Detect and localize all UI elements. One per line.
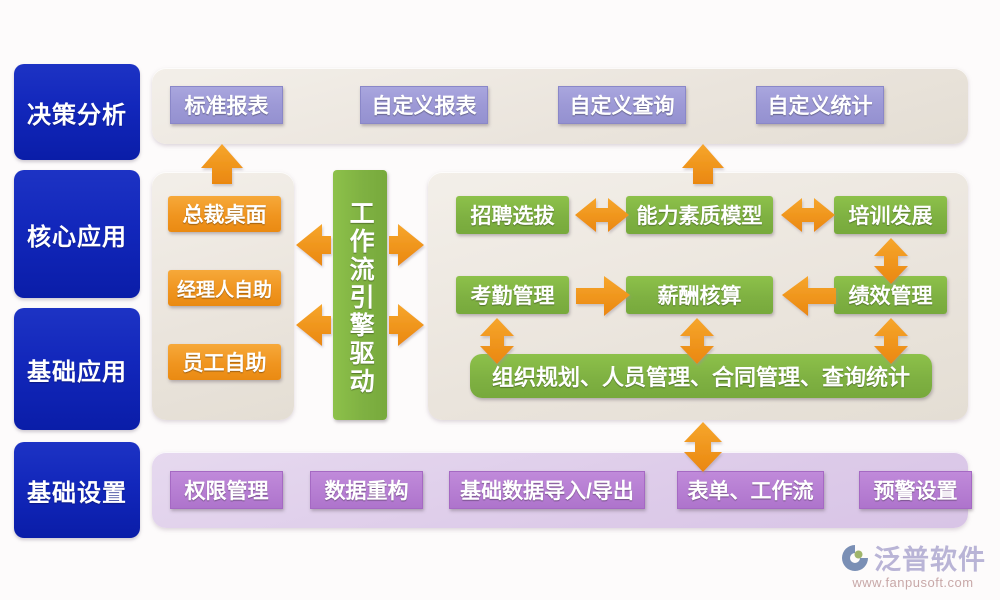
chip-label: 组织规划、人员管理、合同管理、查询统计 bbox=[492, 360, 910, 392]
chip-payroll-accounting[interactable]: 薪酬核算 bbox=[626, 276, 773, 314]
sidebar-item-label: 核心应用 bbox=[27, 217, 127, 252]
chip-label: 总裁桌面 bbox=[183, 199, 267, 229]
chip-form-workflow[interactable]: 表单、工作流 bbox=[677, 471, 824, 509]
chip-ceo-desktop[interactable]: 总裁桌面 bbox=[168, 196, 281, 232]
chip-label: 薪酬核算 bbox=[658, 280, 742, 310]
chip-foundation-modules[interactable]: 组织规划、人员管理、合同管理、查询统计 bbox=[470, 354, 932, 398]
chip-label: 考勤管理 bbox=[471, 280, 555, 310]
chip-label: 培训发展 bbox=[849, 200, 933, 230]
diagram-canvas: 决策分析 核心应用 基础应用 基础设置 标准报表 自定义报表 自定义查询 自定义… bbox=[0, 0, 1000, 600]
chip-label: 经理人自助 bbox=[177, 275, 272, 302]
chip-training-development[interactable]: 培训发展 bbox=[834, 196, 947, 234]
chip-label: 数据重构 bbox=[325, 475, 409, 505]
settings-panel: 权限管理 数据重构 基础数据导入/导出 表单、工作流 预警设置 bbox=[152, 452, 968, 528]
sidebar-item-label: 基础应用 bbox=[27, 352, 127, 387]
chip-label: 表单、工作流 bbox=[688, 475, 814, 505]
chip-performance-management[interactable]: 绩效管理 bbox=[834, 276, 947, 314]
chip-label: 权限管理 bbox=[185, 475, 269, 505]
chip-label: 自定义查询 bbox=[570, 90, 675, 120]
sidebar-item-label: 决策分析 bbox=[27, 95, 127, 130]
chip-label: 标准报表 bbox=[185, 90, 269, 120]
arrow-left-engine-to-selfservice-bottom bbox=[296, 304, 331, 346]
chip-label: 员工自助 bbox=[183, 347, 267, 377]
chip-basic-data-import-export[interactable]: 基础数据导入/导出 bbox=[449, 471, 645, 509]
chip-label: 基础数据导入/导出 bbox=[460, 475, 634, 505]
workflow-engine-label: 工作流引擎驱动 bbox=[347, 200, 373, 396]
chip-label: 自定义统计 bbox=[768, 90, 873, 120]
chip-custom-statistics[interactable]: 自定义统计 bbox=[756, 86, 884, 124]
arrow-right-engine-to-core-bottom bbox=[389, 304, 424, 346]
core-application-panel: 招聘选拔 能力素质模型 培训发展 考勤管理 薪酬核算 绩效管理 组织规划、人员管… bbox=[428, 172, 968, 420]
sidebar-item-label: 基础设置 bbox=[27, 473, 127, 508]
chip-custom-report[interactable]: 自定义报表 bbox=[360, 86, 488, 124]
watermark: 泛普软件 www.fanpusoft.com bbox=[840, 538, 986, 590]
chip-data-restructuring[interactable]: 数据重构 bbox=[310, 471, 423, 509]
chip-alert-settings[interactable]: 预警设置 bbox=[859, 471, 972, 509]
chip-competency-model[interactable]: 能力素质模型 bbox=[626, 196, 773, 234]
chip-employee-self-service[interactable]: 员工自助 bbox=[168, 344, 281, 380]
chip-label: 能力素质模型 bbox=[637, 200, 763, 230]
watermark-url: www.fanpusoft.com bbox=[840, 575, 986, 590]
sidebar-item-basic-application[interactable]: 基础应用 bbox=[14, 308, 140, 430]
chip-label: 招聘选拔 bbox=[471, 200, 555, 230]
analysis-panel: 标准报表 自定义报表 自定义查询 自定义统计 bbox=[152, 68, 968, 144]
chip-label: 绩效管理 bbox=[849, 280, 933, 310]
chip-recruitment-selection[interactable]: 招聘选拔 bbox=[456, 196, 569, 234]
sidebar-item-decision-analysis[interactable]: 决策分析 bbox=[14, 64, 140, 160]
sidebar-item-basic-settings[interactable]: 基础设置 bbox=[14, 442, 140, 538]
chip-custom-query[interactable]: 自定义查询 bbox=[558, 86, 686, 124]
chip-attendance-management[interactable]: 考勤管理 bbox=[456, 276, 569, 314]
chip-permission-management[interactable]: 权限管理 bbox=[170, 471, 283, 509]
workflow-engine-bar[interactable]: 工作流引擎驱动 bbox=[333, 170, 387, 420]
watermark-name: 泛普软件 bbox=[874, 538, 986, 577]
arrow-left-engine-to-selfservice-top bbox=[296, 224, 331, 266]
sidebar-item-core-application[interactable]: 核心应用 bbox=[14, 170, 140, 298]
chip-manager-self-service[interactable]: 经理人自助 bbox=[168, 270, 281, 306]
chip-label: 自定义报表 bbox=[372, 90, 477, 120]
fanpu-logo-icon bbox=[840, 543, 870, 573]
self-service-panel: 总裁桌面 经理人自助 员工自助 bbox=[152, 172, 294, 420]
chip-label: 预警设置 bbox=[874, 475, 958, 505]
chip-standard-report[interactable]: 标准报表 bbox=[170, 86, 283, 124]
arrow-right-engine-to-core-top bbox=[389, 224, 424, 266]
